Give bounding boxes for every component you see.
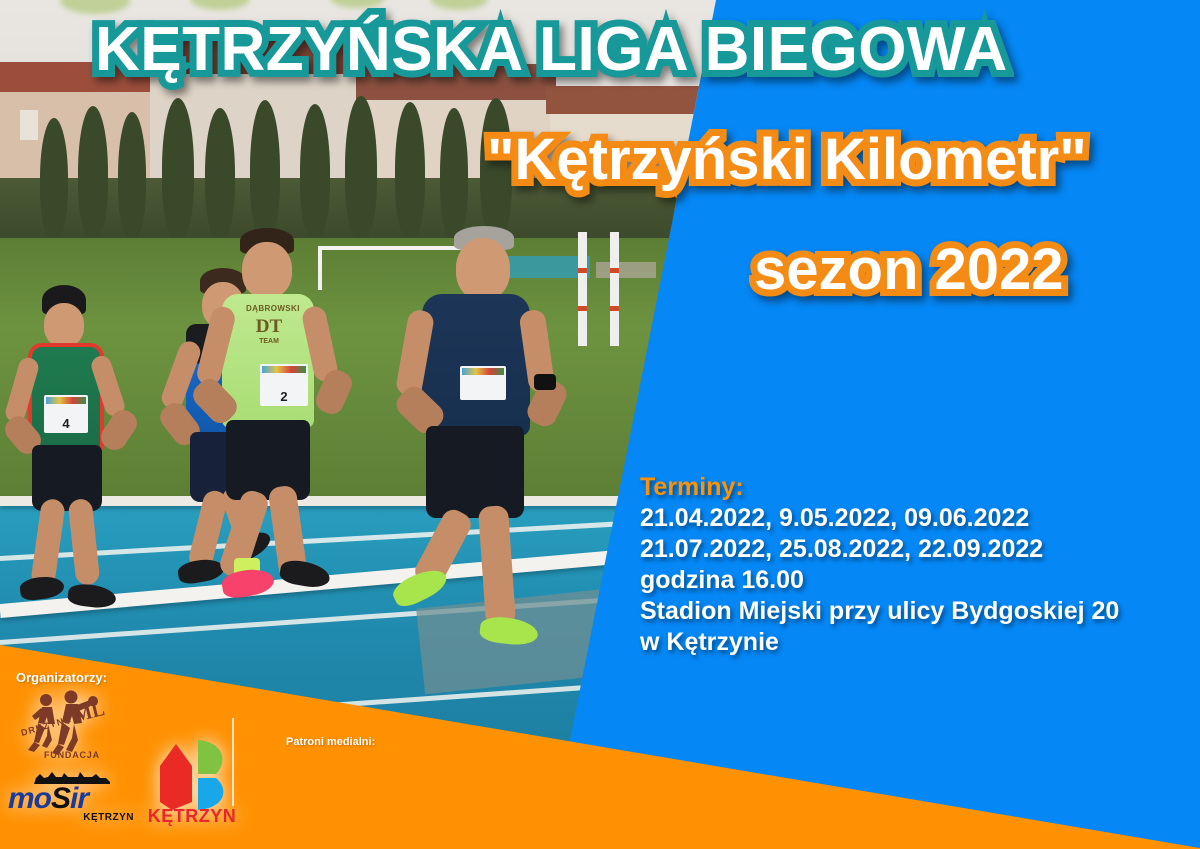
details-label: Terminy: <box>640 472 1119 503</box>
details-city: w Kętrzynie <box>640 627 1119 658</box>
logo-ketrzyn[interactable]: KĘTRZYN <box>142 736 246 828</box>
svg-text:ML: ML <box>72 699 107 727</box>
media-patrons-label: Patroni medialni: <box>286 736 375 748</box>
mosir-part-3: ir <box>70 782 88 815</box>
wrist-watch <box>534 374 556 390</box>
details-date-line-2: 21.07.2022, 25.08.2022, 22.09.2022 <box>640 534 1119 565</box>
bib-number-lead <box>460 366 506 400</box>
logo-fundacja-druzyna-ml[interactable]: DRUŻYNA ML FUNDACJA <box>14 690 110 768</box>
page-title: KĘTRZYŃSKA LIGA BIEGOWA <box>95 14 1008 85</box>
mosir-sublabel: KĘTRZYN <box>83 812 134 823</box>
runner-bib-2: DĄBROWSKI DT TEAM 2 <box>196 228 356 628</box>
runner-bib-4: 4 <box>10 285 140 615</box>
druzyna-ml-runners-icon: DRUŻYNA ML FUNDACJA <box>14 690 110 760</box>
season-label: sezon 2022 <box>754 236 1064 303</box>
bib-number-2: 2 <box>260 364 308 406</box>
details-time: godzina 16.00 <box>640 565 1119 596</box>
svg-text:FUNDACJA: FUNDACJA <box>44 750 100 760</box>
details-date-line-1: 21.04.2022, 9.05.2022, 09.06.2022 <box>640 503 1119 534</box>
logo-mosir[interactable]: moSir KĘTRZYN <box>8 782 132 830</box>
bib-number-4: 4 <box>44 395 88 433</box>
details-venue: Stadion Miejski przy ulicy Bydgoskiej 20 <box>640 596 1119 627</box>
mosir-part-2: S <box>51 782 70 815</box>
organizers-label: Organizatorzy: <box>16 670 107 685</box>
mosir-part-1: mo <box>8 782 51 815</box>
poster-root: 4 <box>0 0 1200 849</box>
event-subtitle: "Kętrzyński Kilometr" <box>487 126 1087 193</box>
runner-navy-lead <box>398 226 588 656</box>
event-details: Terminy: 21.04.2022, 9.05.2022, 09.06.20… <box>640 472 1119 658</box>
ketrzyn-wordmark: KĘTRZYN <box>142 806 242 827</box>
